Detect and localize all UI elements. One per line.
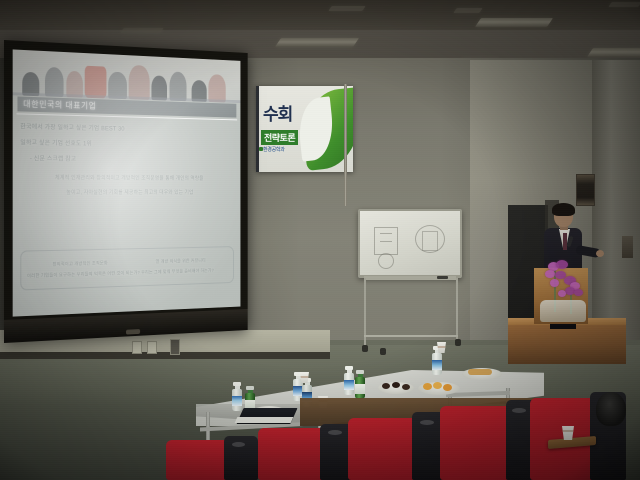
snack-food (382, 383, 390, 389)
presentation-slide: 대한민국의 대표기업 한국에서 가장 일하고 싶은 기업 BEST 30 일하고… (13, 49, 241, 316)
ceiling-light-fixture (587, 48, 640, 57)
orchid-petal (556, 260, 568, 269)
cracker-food (468, 369, 492, 375)
auditorium-seat[interactable] (440, 400, 538, 480)
whiteboard (358, 209, 462, 278)
audience-member-head (596, 392, 626, 426)
bottle-label (232, 396, 242, 406)
strip-figure (169, 71, 187, 101)
whiteboard-leg (456, 278, 458, 340)
slide-callout-row: 창의적이고 개방적인 조직문화 열 개방 의식을 위한 커뮤니티 (27, 257, 228, 268)
cup-band (437, 346, 446, 348)
paper-cup[interactable] (300, 372, 309, 383)
orchid-petal (558, 290, 566, 297)
banner-subtitle-text: 전략토론 (261, 130, 298, 145)
seat-highlight (328, 430, 342, 435)
orange-slice (433, 382, 442, 389)
slide-bullet-line: 일하고 싶은 기업 선호도 1위 (20, 137, 234, 149)
orchid-petal (574, 289, 583, 296)
strip-figure (44, 66, 63, 96)
presenter-hand (596, 250, 604, 257)
bottle-label (344, 380, 354, 390)
whiteboard-scribble (380, 233, 392, 234)
banner-org-text: 환경공학과 (263, 146, 285, 153)
orange-slice (423, 383, 432, 390)
slide-callout-bottom-text: 이러한 기업들이 요구하는 우리들의 덕목은 어떤 것이 되는가? 우리는 그에… (27, 267, 228, 279)
wall-skirting (0, 352, 330, 359)
presenter-hair (552, 203, 575, 216)
lecture-hall-photo: 수회 전략토론 환경공학과 (0, 0, 640, 480)
whiteboard-scribble (422, 231, 438, 251)
slide-body: 한국에서 가장 일하고 싶은 기업 BEST 30 일하고 싶은 기업 선호도 … (13, 114, 241, 316)
auditorium-seat[interactable] (166, 436, 258, 480)
slide-photo-strip (13, 49, 241, 102)
notebook-paper (235, 417, 294, 423)
slide-bullet-line: - 신문 스크랩 참고 (20, 153, 234, 164)
whiteboard-surface (360, 211, 460, 275)
orchid-petal (550, 279, 559, 287)
presenter-tie (563, 233, 567, 250)
power-outlet (132, 341, 142, 354)
ceiling-light-fixture (608, 2, 640, 7)
strip-figure (129, 65, 149, 100)
paper-cup[interactable] (437, 342, 446, 353)
seat-highlight (420, 420, 434, 425)
whiteboard-caster (362, 345, 368, 352)
snack-food (402, 384, 410, 390)
flower-arrangement (536, 260, 592, 322)
slide-bullet-line: 높이고, 자아실현의 기회를 제공하는 최고의 대우와 있는 기업 (20, 188, 234, 196)
cup-band (562, 430, 574, 432)
ceiling-light-fixture (120, 28, 163, 33)
ceiling-light-fixture (275, 38, 359, 47)
flower-wrapping (540, 300, 586, 322)
seat-highlight (232, 442, 245, 447)
slide-bullet-line: 체계적 인재관리와 창의적이고 개방적인 조직운영을 통해 개인의 역량을 (20, 173, 234, 182)
whiteboard-scribble (378, 253, 394, 269)
slide-callout-box: 창의적이고 개방적인 조직문화 열 개방 의식을 위한 커뮤니티 이러한 기업들… (20, 246, 234, 290)
whiteboard-caster (455, 339, 461, 346)
ceiling-light-fixture (328, 6, 365, 11)
orange-slice (443, 384, 452, 391)
slide-bullet-line: 한국에서 가장 일하고 싶은 기업 BEST 30 (20, 121, 234, 135)
ceiling-light-fixture (453, 8, 482, 13)
ceiling-light-fixture (475, 18, 553, 27)
strip-figure (85, 65, 106, 98)
orchid-petal (545, 270, 555, 278)
power-outlet (147, 341, 157, 354)
slide-title: 대한민국의 대표기업 (17, 97, 96, 111)
cup-band (300, 376, 309, 378)
snack-food (392, 382, 400, 388)
whiteboard-scribble (380, 241, 392, 242)
whiteboard-crossbar (364, 335, 458, 337)
bottle-label (355, 384, 365, 394)
slide-callout-right-text: 열 개방 의식을 위한 커뮤니티 (156, 257, 206, 264)
banner-pole (344, 84, 347, 206)
auditorium-seat[interactable] (348, 412, 446, 480)
seat-highlight (512, 408, 526, 413)
projection-screen-surface: 대한민국의 대표기업 한국에서 가장 일하고 싶은 기업 BEST 30 일하고… (13, 49, 241, 316)
wall-banner: 수회 전략토론 환경공학과 (256, 86, 353, 172)
whiteboard-caster (380, 348, 386, 355)
slide-callout-left-text: 창의적이고 개방적인 조직문화 (53, 260, 108, 267)
power-outlet (170, 339, 180, 355)
paper-cup[interactable] (562, 426, 574, 440)
banner-title-text: 수회 (263, 100, 292, 125)
screen-pull-knob[interactable] (126, 329, 140, 335)
whiteboard-marker[interactable] (437, 276, 448, 279)
projection-screen: 대한민국의 대표기업 한국에서 가장 일하고 싶은 기업 BEST 30 일하고… (4, 40, 248, 343)
bottle-label (432, 360, 442, 370)
auditorium-seat[interactable] (258, 424, 354, 480)
